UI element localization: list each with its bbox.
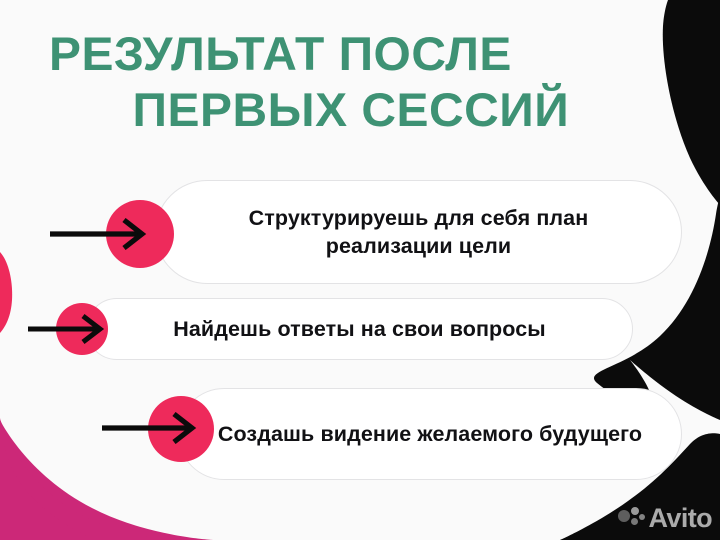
benefit-marker-2 bbox=[26, 303, 144, 355]
benefit-card-1-label: Структурируешь для себя план реализации … bbox=[156, 204, 681, 260]
avito-watermark: Avito bbox=[618, 503, 713, 533]
black-corner-wedge-top-right bbox=[663, 0, 720, 205]
slide-canvas: РЕЗУЛЬТАТ ПОСЛЕ ПЕРВЫХ СЕССИЙ Структурир… bbox=[0, 0, 720, 540]
benefit-marker-1 bbox=[48, 200, 188, 268]
title-line-2: ПЕРВЫХ СЕССИЙ bbox=[0, 82, 653, 138]
arrow-right-icon-3 bbox=[100, 412, 208, 444]
benefit-card-2[interactable]: Найдешь ответы на свои вопросы bbox=[86, 298, 633, 360]
arrow-right-icon-2 bbox=[26, 313, 114, 345]
slide-title: РЕЗУЛЬТАТ ПОСЛЕ ПЕРВЫХ СЕССИЙ bbox=[0, 26, 640, 138]
title-line-1: РЕЗУЛЬТАТ ПОСЛЕ bbox=[0, 26, 653, 82]
benefit-card-3[interactable]: Создашь видение желаемого будущего bbox=[178, 388, 682, 480]
benefit-card-2-label: Найдешь ответы на свои вопросы bbox=[147, 315, 572, 343]
benefit-card-3-label: Создашь видение желаемого будущего bbox=[188, 420, 672, 448]
avito-dots-logo-icon bbox=[618, 507, 644, 529]
pink-circle-edge-left bbox=[0, 252, 12, 333]
avito-brand-text: Avito bbox=[649, 505, 713, 532]
benefit-card-1[interactable]: Структурируешь для себя план реализации … bbox=[155, 180, 682, 284]
arrow-right-icon-1 bbox=[48, 218, 158, 250]
benefit-marker-3 bbox=[100, 396, 240, 462]
